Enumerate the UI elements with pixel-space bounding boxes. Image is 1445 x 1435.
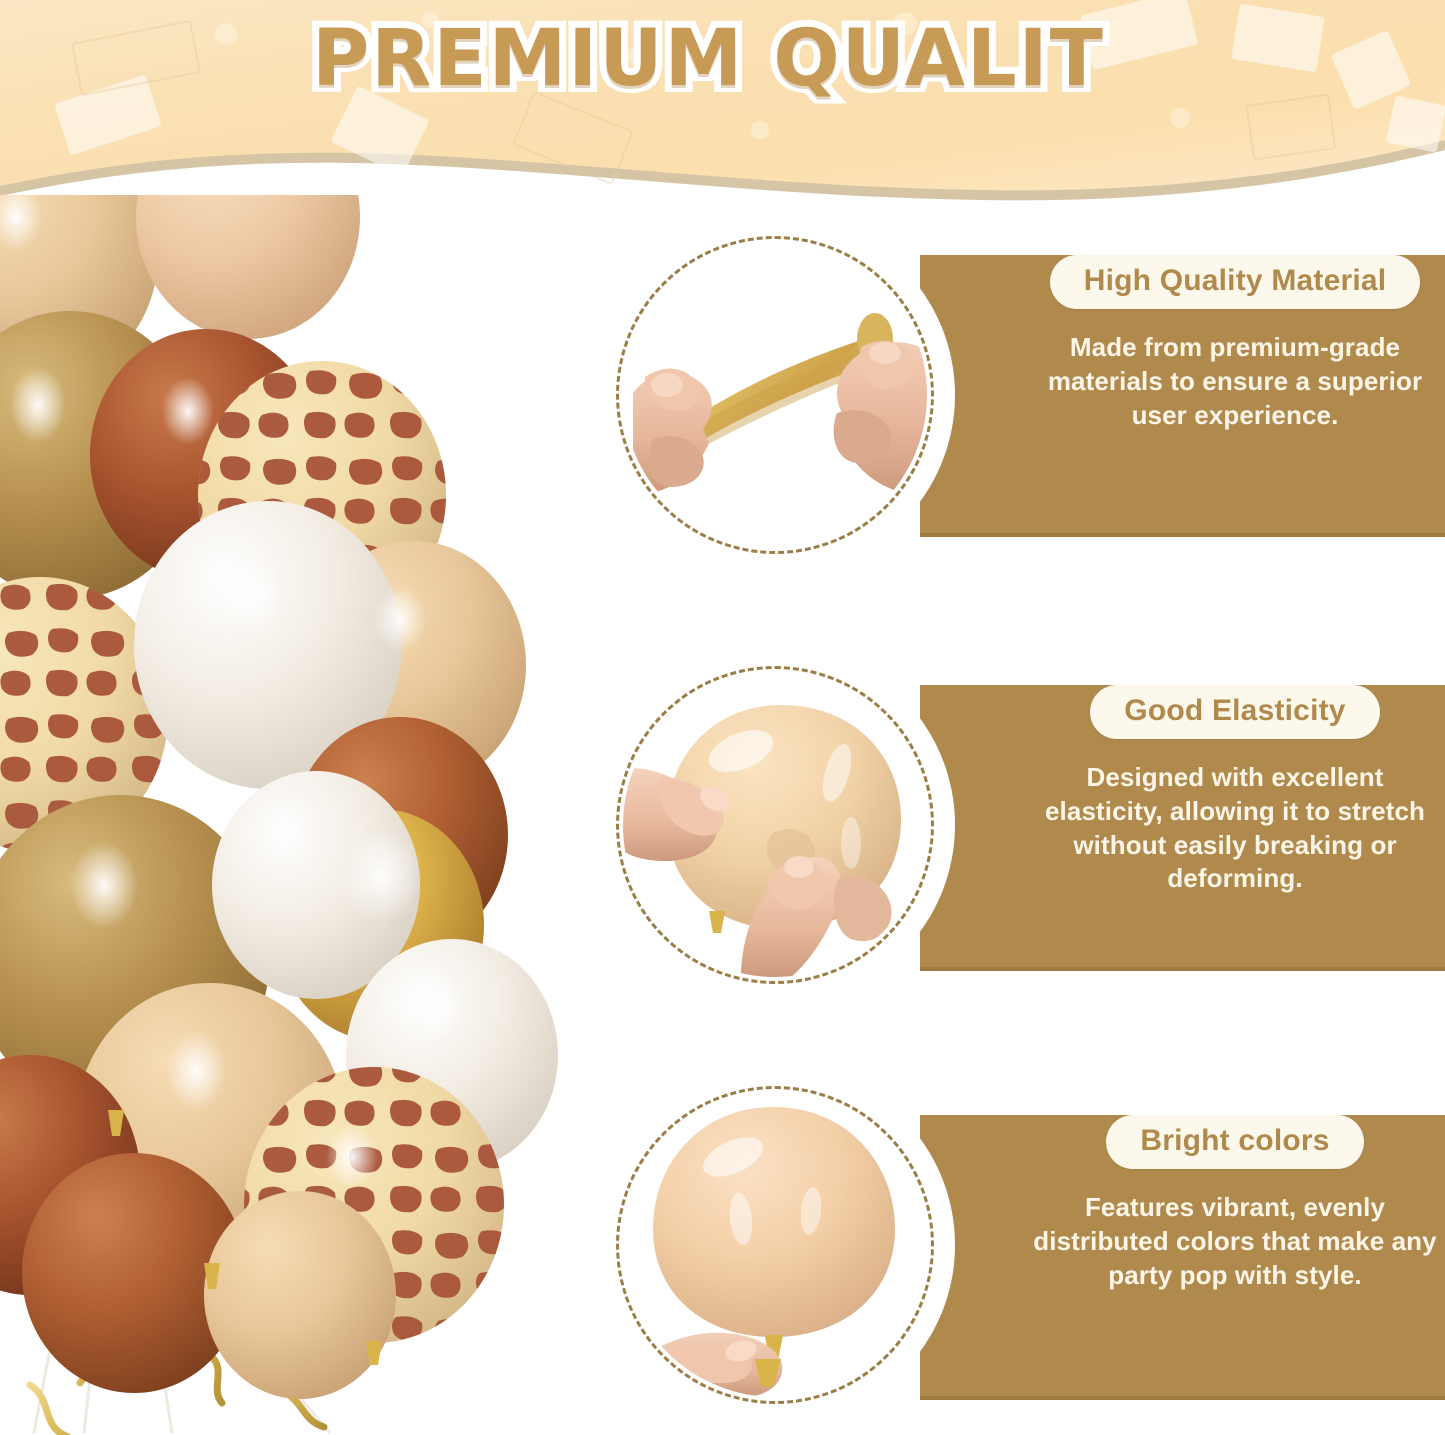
feature-photo-high-quality-material [605, 225, 945, 565]
photo-dashed-ring [616, 1086, 934, 1404]
feature-panel-good-elasticity: Good Elasticity Designed with excellent … [920, 685, 1445, 971]
feature-photo-bright-colors [605, 1075, 945, 1415]
feature-title-badge: High Quality Material [1050, 255, 1421, 309]
feature-panel-bright-colors: Bright colors Features vibrant, evenly d… [920, 1115, 1445, 1400]
photo-dashed-ring [616, 236, 934, 554]
feature-title-badge: Bright colors [1106, 1115, 1363, 1169]
feature-description: Made from premium-grade materials to ens… [1025, 331, 1445, 432]
feature-photo-good-elasticity [605, 655, 945, 995]
feature-panel-high-quality-material: High Quality Material Made from premium-… [920, 255, 1445, 537]
feature-title-badge: Good Elasticity [1090, 685, 1379, 739]
page-title: PREMIUM QUALIT [0, 14, 1431, 104]
balloon-cluster-art [0, 195, 560, 1435]
balloon-product-collage [0, 195, 560, 1435]
feature-description: Designed with excellent elasticity, allo… [1025, 761, 1445, 896]
feature-description: Features vibrant, evenly distributed col… [1025, 1191, 1445, 1292]
infographic-canvas: PREMIUM QUALIT [0, 0, 1445, 1435]
photo-dashed-ring [616, 666, 934, 984]
